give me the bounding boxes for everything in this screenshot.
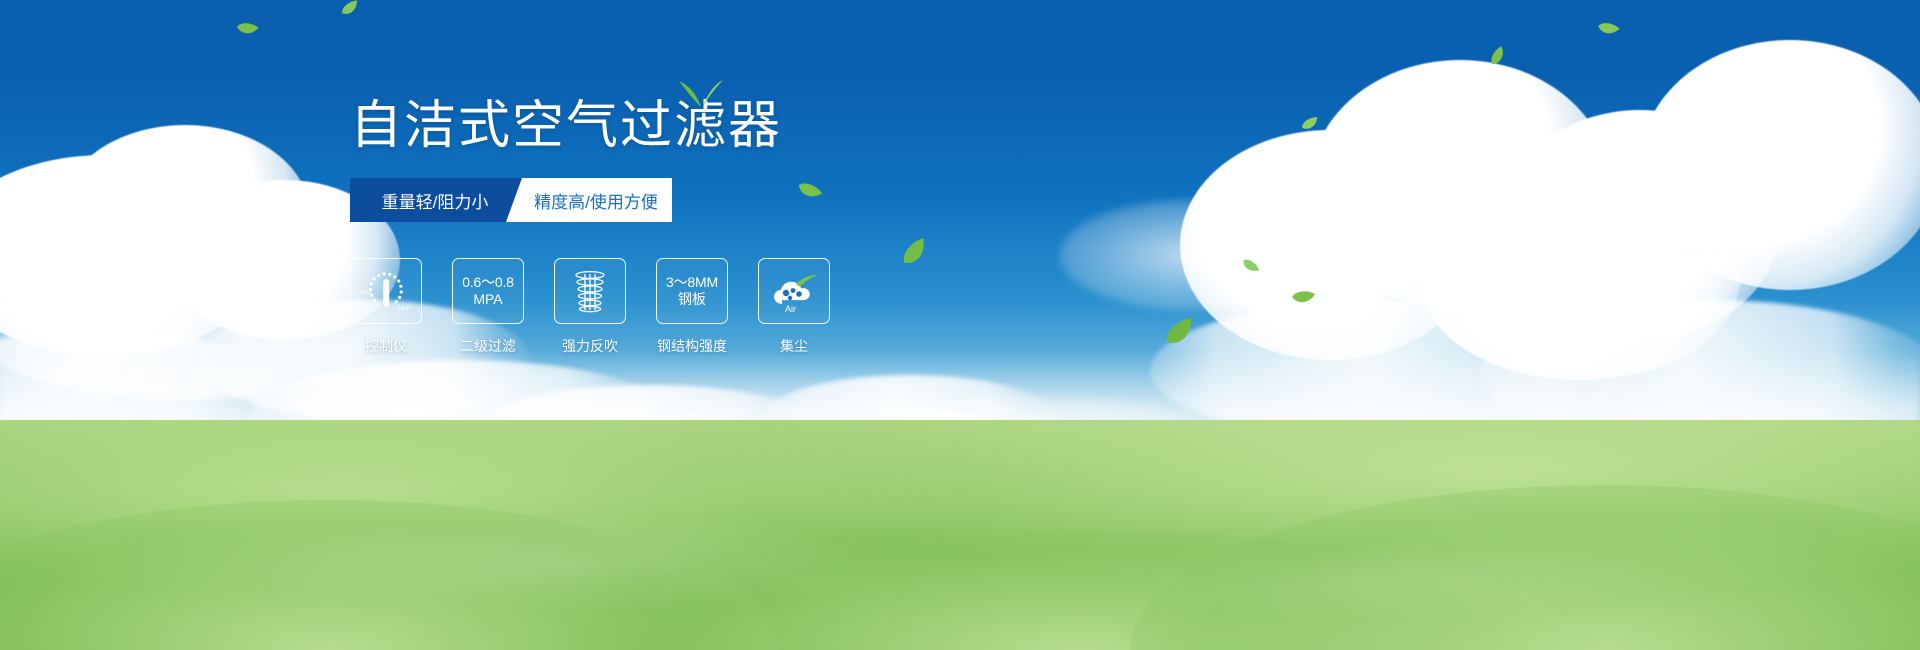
page-title: 自洁式空气过滤器 — [350, 100, 990, 152]
pressure-unit-text: MPA — [473, 291, 502, 308]
feature-icon-box: 3～8MM 钢板 — [656, 258, 728, 324]
feature-item[interactable]: Air 集尘 — [758, 258, 830, 356]
feature-item[interactable]: NO OFF 控制仪 — [350, 258, 422, 356]
banner-content: 自洁式空气过滤器 重量轻/阻力小 精度高/使用方便 — [350, 100, 990, 356]
dial-label-no: NO — [361, 289, 371, 296]
air-label: Air — [785, 304, 796, 314]
feature-label: 二级过滤 — [452, 336, 524, 356]
feature-tabs: 重量轻/阻力小 精度高/使用方便 — [350, 178, 672, 222]
grass-sheen — [0, 420, 1920, 650]
feature-icon-box: NO OFF — [350, 258, 422, 324]
cloud-right-8 — [1060, 200, 1320, 310]
feature-item[interactable]: 3～8MM 钢板 钢结构强度 — [656, 258, 728, 356]
pressure-range-text: 0.6～0.8 — [462, 274, 514, 291]
product-banner: 自洁式空气过滤器 重量轻/阻力小 精度高/使用方便 — [0, 0, 1920, 650]
feature-label: 强力反吹 — [554, 336, 626, 356]
gauge-dial-icon: NO OFF — [358, 266, 414, 316]
cloud-air-icon: Air — [766, 266, 822, 316]
feature-label: 集尘 — [758, 336, 830, 356]
feature-icon-box — [554, 258, 626, 324]
grass-ground — [0, 420, 1920, 650]
filter-cartridge-icon — [567, 266, 613, 316]
feature-label: 钢结构强度 — [642, 336, 742, 356]
steel-plate-text: 钢板 — [678, 291, 706, 308]
title-leaf-icon — [678, 78, 724, 113]
tab-weight-resistance[interactable]: 重量轻/阻力小 — [350, 178, 522, 222]
steel-thickness-text: 3～8MM — [666, 274, 718, 291]
feature-icon-box: Air — [758, 258, 830, 324]
feature-list: NO OFF 控制仪 0.6～0.8 MPA 二级过滤 — [350, 258, 990, 356]
tab-precision-convenience[interactable]: 精度高/使用方便 — [506, 178, 672, 222]
dial-label-off: OFF — [398, 307, 410, 313]
feature-item[interactable]: 0.6～0.8 MPA 二级过滤 — [452, 258, 524, 356]
feature-icon-box: 0.6～0.8 MPA — [452, 258, 524, 324]
feature-label: 控制仪 — [350, 336, 422, 356]
feature-item[interactable]: 强力反吹 — [554, 258, 626, 356]
